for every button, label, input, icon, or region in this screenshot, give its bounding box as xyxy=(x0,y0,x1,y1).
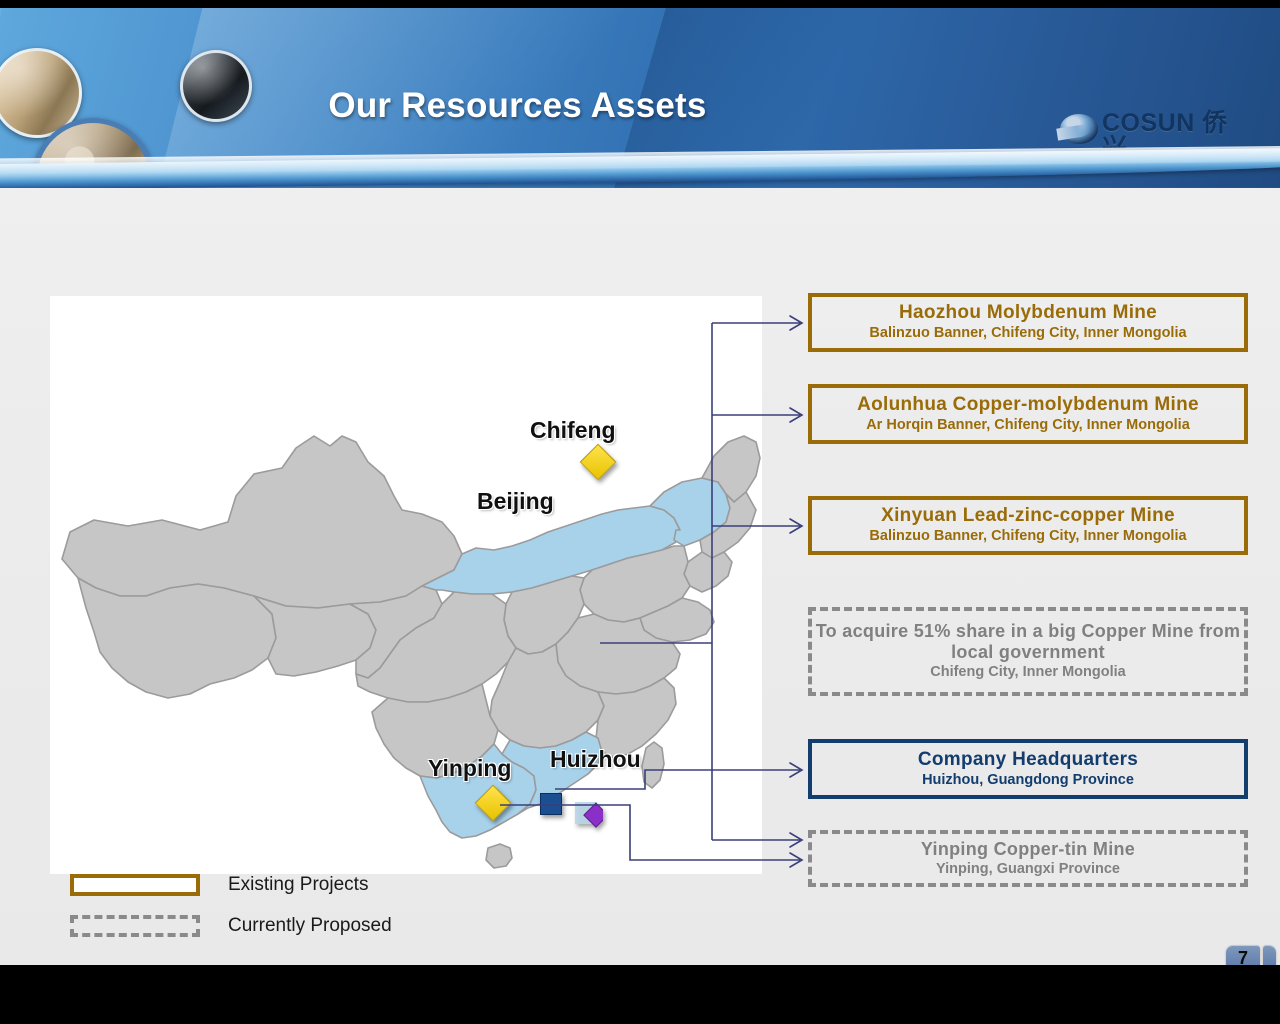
page-title: Our Resources Assets xyxy=(0,86,1035,126)
map-marker-yinping[interactable] xyxy=(480,790,506,816)
city-label-chifeng: Chifeng xyxy=(530,417,616,444)
info-box-title: Xinyuan Lead-zinc-copper Mine xyxy=(812,505,1244,527)
yellow-diamond-icon xyxy=(580,444,617,481)
legend-item-existing: Existing Projects xyxy=(70,874,368,896)
navy-square-icon xyxy=(540,793,562,815)
purple-diamond-icon xyxy=(569,796,603,830)
banner-sweep xyxy=(0,146,1280,188)
map-marker-huizhou[interactable] xyxy=(540,793,562,815)
info-box-title: Company Headquarters xyxy=(812,749,1244,771)
legend-swatch-solid xyxy=(70,874,200,896)
city-label-huizhou: Huizhou xyxy=(550,746,641,773)
page-number-tab xyxy=(1263,945,1276,965)
yellow-diamond-icon xyxy=(475,785,512,822)
info-box-xinyuan[interactable]: Xinyuan Lead-zinc-copper Mine Balinzuo B… xyxy=(808,496,1248,555)
info-box-subtitle: Ar Horqin Banner, Chifeng City, Inner Mo… xyxy=(812,417,1244,434)
legend-swatch-dashed xyxy=(70,915,200,937)
slide-canvas: Our Resources Assets COSUN 侨兴 中 国 ． 世 界 xyxy=(0,8,1280,965)
logo-swoosh-icon xyxy=(1060,114,1098,144)
info-box-yinping[interactable]: Yinping Copper-tin Mine Yinping, Guangxi… xyxy=(808,830,1248,887)
china-map-panel: Chifeng Beijing Yinping Huizhou xyxy=(50,296,762,874)
city-label-beijing: Beijing xyxy=(477,488,554,515)
info-box-haozhou[interactable]: Haozhou Molybdenum Mine Balinzuo Banner,… xyxy=(808,293,1248,352)
info-box-title: Haozhou Molybdenum Mine xyxy=(812,302,1244,324)
china-map-svg xyxy=(50,296,762,874)
city-label-yinping: Yinping xyxy=(428,755,511,782)
page-number-badge: 7 xyxy=(1226,945,1260,965)
legend-label: Existing Projects xyxy=(228,874,368,896)
info-box-subtitle: Chifeng City, Inner Mongolia xyxy=(812,664,1244,681)
info-box-headquarters[interactable]: Company Headquarters Huizhou, Guangdong … xyxy=(808,739,1248,799)
slide-header-banner: Our Resources Assets COSUN 侨兴 中 国 ． 世 界 xyxy=(0,8,1280,188)
info-box-aolunhua[interactable]: Aolunhua Copper-molybdenum Mine Ar Horqi… xyxy=(808,384,1248,444)
info-box-title: Aolunhua Copper-molybdenum Mine xyxy=(812,394,1244,416)
info-box-subtitle: Balinzuo Banner, Chifeng City, Inner Mon… xyxy=(812,528,1244,545)
info-box-acquire-copper[interactable]: To acquire 51% share in a big Copper Min… xyxy=(808,607,1248,696)
info-box-subtitle: Yinping, Guangxi Province xyxy=(812,861,1244,878)
info-box-subtitle: Huizhou, Guangdong Province xyxy=(812,772,1244,789)
map-marker-beijing[interactable] xyxy=(569,796,603,835)
info-box-title: Yinping Copper-tin Mine xyxy=(812,839,1244,860)
legend-label: Currently Proposed xyxy=(228,915,392,937)
map-marker-chifeng[interactable] xyxy=(585,449,611,475)
info-box-title: To acquire 51% share in a big Copper Min… xyxy=(812,621,1244,663)
info-box-subtitle: Balinzuo Banner, Chifeng City, Inner Mon… xyxy=(812,325,1244,342)
legend-item-proposed: Currently Proposed xyxy=(70,915,392,937)
